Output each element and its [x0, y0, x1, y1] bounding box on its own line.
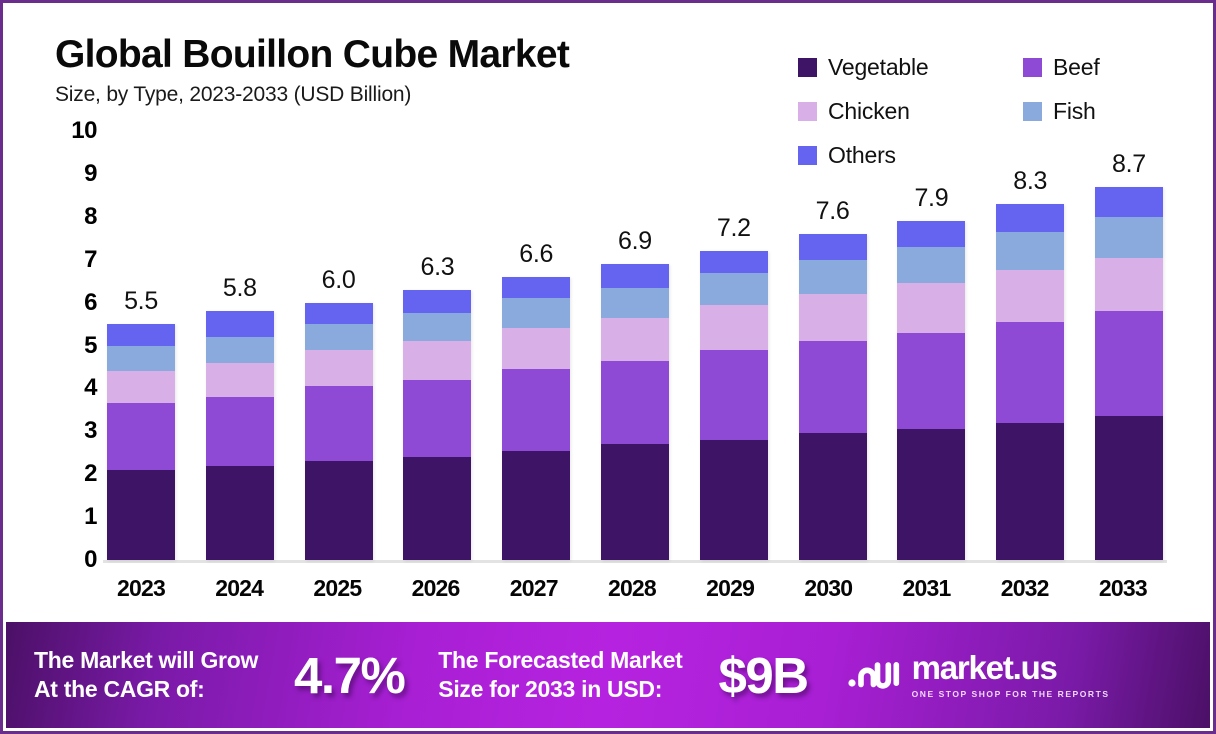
- bar-column[interactable]: 5.8: [206, 131, 274, 560]
- x-axis-tick: 2033: [1089, 575, 1157, 602]
- bar-segment-chicken[interactable]: [107, 371, 175, 403]
- x-axis-tick: 2025: [303, 575, 371, 602]
- bar-segment-others[interactable]: [206, 311, 274, 337]
- bar-column[interactable]: 6.0: [305, 131, 373, 560]
- bar-stack: [305, 303, 373, 560]
- bar-segment-vegetable[interactable]: [305, 461, 373, 560]
- bar-segment-beef[interactable]: [107, 403, 175, 469]
- legend-label: Chicken: [828, 98, 910, 125]
- bar-series-container: 5.55.86.06.36.66.97.27.67.98.38.7: [103, 131, 1167, 560]
- bar-segment-fish[interactable]: [206, 337, 274, 363]
- legend-label: Beef: [1053, 54, 1100, 81]
- bar-segment-chicken[interactable]: [996, 270, 1064, 321]
- bar-segment-others[interactable]: [799, 234, 867, 260]
- bar-value-label: 8.3: [1013, 167, 1047, 196]
- legend-swatch-icon: [798, 58, 817, 77]
- market-us-logo-icon: [848, 657, 900, 694]
- bar-segment-chicken[interactable]: [305, 350, 373, 386]
- y-axis-tick: 7: [55, 246, 97, 274]
- bar-segment-chicken[interactable]: [206, 363, 274, 397]
- x-axis-line: [103, 560, 1167, 563]
- bar-value-label: 5.8: [223, 274, 257, 303]
- bar-stack: [996, 204, 1064, 560]
- bar-segment-chicken[interactable]: [601, 318, 669, 361]
- bar-segment-beef[interactable]: [700, 350, 768, 440]
- bar-segment-vegetable[interactable]: [601, 444, 669, 560]
- bar-stack: [403, 290, 471, 560]
- bar-segment-beef[interactable]: [502, 369, 570, 451]
- y-axis-tick: 2: [55, 460, 97, 488]
- bar-stack: [502, 277, 570, 560]
- x-axis-tick: 2024: [205, 575, 273, 602]
- bar-segment-chicken[interactable]: [403, 341, 471, 380]
- bar-segment-fish[interactable]: [107, 346, 175, 372]
- x-axis-tick: 2030: [794, 575, 862, 602]
- bar-stack: [897, 221, 965, 560]
- bar-segment-beef[interactable]: [897, 333, 965, 430]
- bar-column[interactable]: 7.2: [700, 131, 768, 560]
- bar-segment-vegetable[interactable]: [996, 423, 1064, 560]
- bar-segment-vegetable[interactable]: [1095, 416, 1163, 560]
- y-axis-tick: 8: [55, 203, 97, 231]
- bar-column[interactable]: 7.6: [799, 131, 867, 560]
- bar-value-label: 6.9: [618, 227, 652, 256]
- y-axis-tick: 0: [55, 546, 97, 574]
- bar-segment-beef[interactable]: [1095, 311, 1163, 416]
- bar-segment-beef[interactable]: [601, 361, 669, 445]
- y-axis-tick: 5: [55, 332, 97, 360]
- bar-value-label: 7.9: [914, 184, 948, 213]
- bar-segment-fish[interactable]: [601, 288, 669, 318]
- x-axis-tick: 2023: [107, 575, 175, 602]
- x-axis: 2023202420252026202720282029203020312032…: [103, 575, 1161, 602]
- bar-segment-fish[interactable]: [799, 260, 867, 294]
- bar-column[interactable]: 6.6: [502, 131, 570, 560]
- logo-tagline: ONE STOP SHOP FOR THE REPORTS: [912, 689, 1110, 699]
- bar-segment-beef[interactable]: [996, 322, 1064, 423]
- bar-segment-chicken[interactable]: [897, 283, 965, 332]
- bar-segment-beef[interactable]: [799, 341, 867, 433]
- y-axis-tick: 1: [55, 503, 97, 531]
- forecast-label: The Forecasted Market Size for 2033 in U…: [438, 646, 682, 704]
- bar-segment-others[interactable]: [601, 264, 669, 288]
- bar-column[interactable]: 6.9: [601, 131, 669, 560]
- chart-subtitle: Size, by Type, 2023-2033 (USD Billion): [55, 83, 775, 107]
- bar-segment-others[interactable]: [996, 204, 1064, 232]
- cagr-value: 4.7%: [294, 646, 404, 705]
- bar-segment-vegetable[interactable]: [897, 429, 965, 560]
- bar-segment-fish[interactable]: [403, 313, 471, 341]
- legend-item-beef[interactable]: Beef: [1023, 45, 1191, 89]
- bar-segment-fish[interactable]: [996, 232, 1064, 271]
- cagr-label-line2: At the CAGR of:: [34, 675, 258, 704]
- market-us-logo[interactable]: market.us ONE STOP SHOP FOR THE REPORTS: [848, 651, 1110, 699]
- bar-value-label: 6.6: [519, 240, 553, 269]
- bar-segment-vegetable[interactable]: [502, 451, 570, 560]
- bar-segment-fish[interactable]: [700, 273, 768, 305]
- y-axis-tick: 3: [55, 417, 97, 445]
- bar-value-label: 7.6: [816, 197, 850, 226]
- forecast-label-line1: The Forecasted Market: [438, 646, 682, 675]
- bar-column[interactable]: 7.9: [897, 131, 965, 560]
- bar-segment-others[interactable]: [305, 303, 373, 324]
- y-axis-tick: 6: [55, 289, 97, 317]
- y-axis-tick: 9: [55, 160, 97, 188]
- bar-segment-vegetable[interactable]: [403, 457, 471, 560]
- bar-segment-chicken[interactable]: [700, 305, 768, 350]
- forecast-label-line2: Size for 2033 in USD:: [438, 675, 682, 704]
- bar-segment-beef[interactable]: [403, 380, 471, 457]
- bar-segment-others[interactable]: [700, 251, 768, 272]
- bar-segment-others[interactable]: [897, 221, 965, 247]
- bar-value-label: 6.0: [322, 266, 356, 295]
- bar-segment-others[interactable]: [403, 290, 471, 314]
- bar-stack: [107, 324, 175, 560]
- y-axis: 012345678910: [55, 131, 97, 569]
- bar-value-label: 6.3: [420, 253, 454, 282]
- bar-segment-fish[interactable]: [305, 324, 373, 350]
- chart-header: Global Bouillon Cube Market Size, by Typ…: [55, 35, 775, 107]
- bar-segment-fish[interactable]: [897, 247, 965, 283]
- chart-plot-area: 012345678910 5.55.86.06.36.66.97.27.67.9…: [55, 131, 1167, 569]
- bar-column[interactable]: 8.7: [1095, 131, 1163, 560]
- bar-segment-beef[interactable]: [305, 386, 373, 461]
- x-axis-tick: 2029: [696, 575, 764, 602]
- legend-item-fish[interactable]: Fish: [1023, 89, 1191, 133]
- bar-segment-chicken[interactable]: [1095, 258, 1163, 312]
- bar-segment-vegetable[interactable]: [799, 433, 867, 560]
- infographic-root: Global Bouillon Cube Market Size, by Typ…: [0, 0, 1216, 734]
- y-axis-tick: 4: [55, 374, 97, 402]
- cagr-label: The Market will Grow At the CAGR of:: [34, 646, 258, 704]
- legend-item-vegetable[interactable]: Vegetable: [798, 45, 1023, 89]
- legend-swatch-icon: [1023, 58, 1042, 77]
- x-axis-tick: 2027: [500, 575, 568, 602]
- bar-stack: [799, 234, 867, 560]
- bar-value-label: 7.2: [717, 214, 751, 243]
- bar-column[interactable]: 5.5: [107, 131, 175, 560]
- forecast-value: $9B: [719, 646, 808, 705]
- x-axis-tick: 2031: [893, 575, 961, 602]
- bar-segment-vegetable[interactable]: [107, 470, 175, 560]
- bar-segment-beef[interactable]: [206, 397, 274, 466]
- bar-segment-others[interactable]: [502, 277, 570, 298]
- y-axis-tick: 10: [55, 117, 97, 145]
- bar-column[interactable]: 8.3: [996, 131, 1064, 560]
- bar-segment-fish[interactable]: [502, 298, 570, 328]
- legend-item-chicken[interactable]: Chicken: [798, 89, 1023, 133]
- bar-value-label: 5.5: [124, 287, 158, 316]
- bar-value-label: 8.7: [1112, 150, 1146, 179]
- x-axis-tick: 2028: [598, 575, 666, 602]
- summary-banner: The Market will Grow At the CAGR of: 4.7…: [6, 622, 1210, 728]
- legend-swatch-icon: [798, 102, 817, 121]
- x-axis-tick: 2032: [991, 575, 1059, 602]
- bar-stack: [601, 264, 669, 560]
- bar-stack: [700, 251, 768, 560]
- x-axis-tick: 2026: [402, 575, 470, 602]
- market-us-logo-text: market.us ONE STOP SHOP FOR THE REPORTS: [912, 651, 1110, 699]
- legend-label: Vegetable: [828, 54, 929, 81]
- bar-column[interactable]: 6.3: [403, 131, 471, 560]
- bar-stack: [206, 311, 274, 560]
- legend-label: Fish: [1053, 98, 1096, 125]
- bar-segment-others[interactable]: [1095, 187, 1163, 217]
- bar-segment-chicken[interactable]: [799, 294, 867, 341]
- bar-segment-vegetable[interactable]: [700, 440, 768, 560]
- logo-name: market.us: [912, 651, 1110, 684]
- page-title: Global Bouillon Cube Market: [55, 35, 775, 76]
- bar-segment-chicken[interactable]: [502, 328, 570, 369]
- bar-segment-others[interactable]: [107, 324, 175, 345]
- cagr-label-line1: The Market will Grow: [34, 646, 258, 675]
- bar-segment-vegetable[interactable]: [206, 466, 274, 560]
- legend-swatch-icon: [1023, 102, 1042, 121]
- bar-segment-fish[interactable]: [1095, 217, 1163, 258]
- bar-stack: [1095, 187, 1163, 560]
